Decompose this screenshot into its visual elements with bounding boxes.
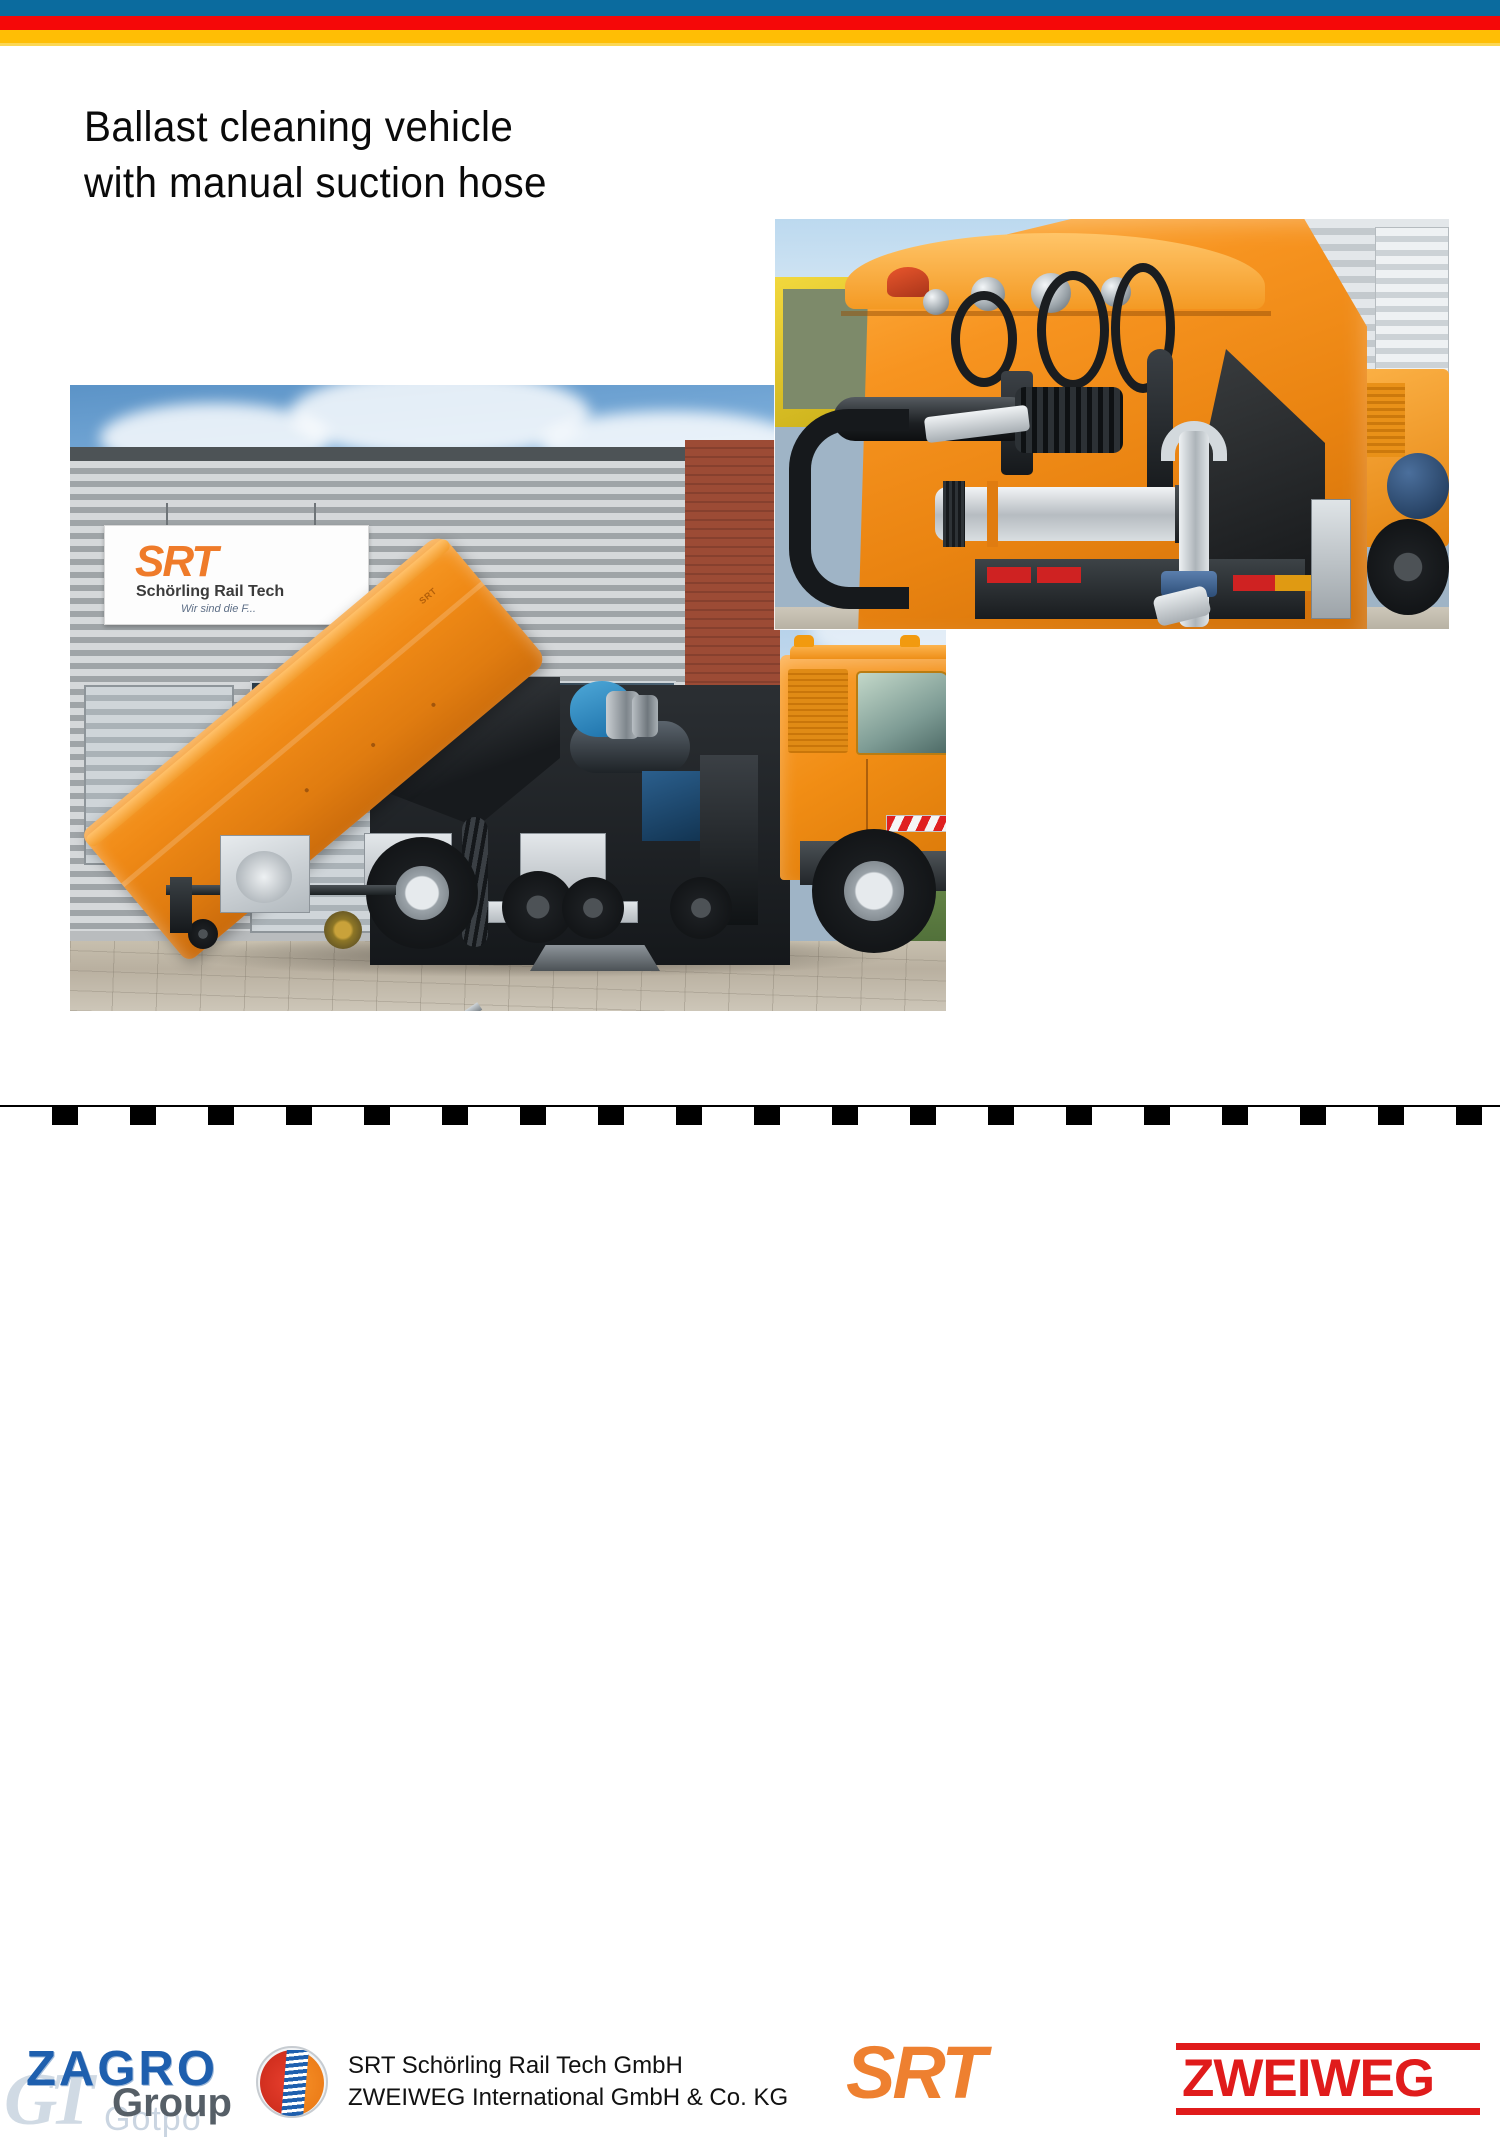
cab-roof xyxy=(790,645,946,659)
building-roof-edge xyxy=(70,447,770,461)
bottom-dashed-band xyxy=(0,1105,1500,1125)
orange-retaining-strap xyxy=(987,481,998,547)
company-names: SRT Schörling Rail Tech GmbH ZWEIWEG Int… xyxy=(348,2050,848,2113)
srt-circle-emblem xyxy=(256,2046,328,2118)
suction-hose-bend xyxy=(789,409,909,609)
rear-wheel xyxy=(1367,519,1449,615)
zweiweg-logo: ZWEIWEG xyxy=(1176,2043,1480,2115)
hose-clamp xyxy=(943,481,965,547)
sign-subtitle-text: Schörling Rail Tech xyxy=(136,583,284,601)
sign-slogan-text: Wir sind die F... xyxy=(181,603,256,615)
blue-equipment-block xyxy=(642,771,702,841)
zagro-group-logo: ZAGRO Group xyxy=(26,2041,246,2125)
rivet xyxy=(431,702,437,708)
rivet xyxy=(370,742,376,748)
hydraulic-hose xyxy=(1037,271,1109,389)
hubcap xyxy=(844,861,904,921)
cab-rear-grille xyxy=(788,669,848,753)
rail-guide-wheel xyxy=(324,911,362,949)
depot-srt-sign: SRT Schörling Rail Tech Wir sind die F..… xyxy=(104,525,369,625)
rear-reflector-red xyxy=(987,567,1031,583)
rail-bogie-wheel xyxy=(562,877,624,939)
rear-reflector-white xyxy=(1037,567,1081,583)
stripe-red xyxy=(0,16,1500,30)
stripe-yellow-soft xyxy=(0,43,1500,46)
stainless-canister xyxy=(632,695,658,737)
stripe-yellow xyxy=(0,30,1500,43)
truck-front-wheel xyxy=(812,829,936,953)
aluminium-access-ladder xyxy=(1311,499,1351,619)
stripe-blue xyxy=(0,0,1500,16)
rotating-beacon xyxy=(887,267,929,297)
warning-beacon xyxy=(900,635,920,647)
rivet xyxy=(304,787,310,793)
zweiweg-rule-bottom xyxy=(1176,2108,1480,2115)
cab-side-window xyxy=(856,671,946,755)
support-leg xyxy=(170,877,192,933)
top-color-stripes xyxy=(0,0,1500,46)
rail-bogie-wheel xyxy=(670,877,732,939)
warning-beacon xyxy=(794,635,814,647)
suction-nozzle-skid xyxy=(530,945,660,971)
aluminium-suction-tube xyxy=(935,487,1185,541)
blue-pump-drum xyxy=(1387,453,1449,519)
photo-rear-suction-hose-detail xyxy=(775,219,1449,629)
zagro-group-text: Group xyxy=(112,2081,232,2126)
zweiweg-rule-top xyxy=(1176,2043,1480,2050)
zweiweg-wordmark: ZWEIWEG xyxy=(1182,2050,1478,2108)
corrugated-suction-hose xyxy=(1015,387,1123,453)
sign-brand-text: SRT xyxy=(135,537,216,587)
support-caster xyxy=(188,919,218,949)
srt-wordmark: SRT xyxy=(846,2042,1116,2104)
rear-reflector-red xyxy=(1233,575,1277,591)
hubcap xyxy=(395,866,449,920)
page-title: Ballast cleaning vehicle with manual suc… xyxy=(84,100,798,212)
hose-reel-drum xyxy=(236,851,292,903)
hazard-warning-stripes xyxy=(886,815,946,832)
cover-brand-marking: SRT xyxy=(417,586,438,606)
work-lamp xyxy=(923,289,949,315)
